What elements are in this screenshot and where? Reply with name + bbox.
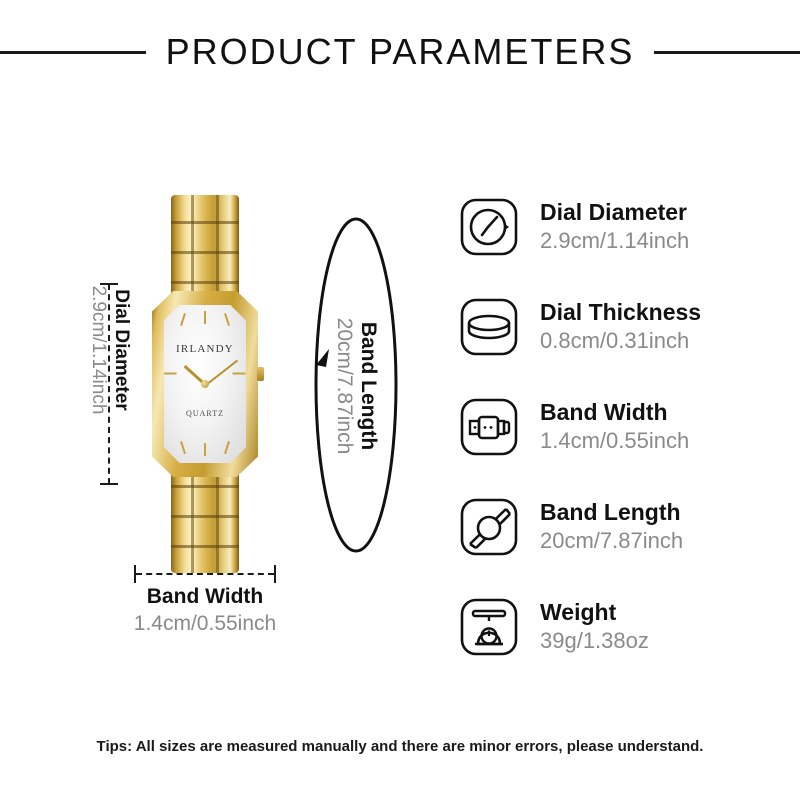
dimension-cap-right [274,565,276,583]
spec-text-dial-thickness: Dial Thickness 0.8cm/0.31inch [540,296,701,355]
spec-row-band-width: Band Width 1.4cm/0.55inch [458,396,788,496]
spec-label-weight: Weight [540,598,649,627]
dial-diameter-callout-labels: Dial Diameter 2.9cm/1.14inch [88,244,132,456]
spec-label-band-width: Band Width [540,398,689,427]
dial-brand-text: IRLANDY [164,343,246,355]
band-width-callout-labels: Band Width 1.4cm/0.55inch [60,584,350,638]
spec-label-band-length: Band Length [540,498,683,527]
spec-text-dial-diameter: Dial Diameter 2.9cm/1.14inch [540,196,689,255]
band-length-callout-labels: Band Length 20cm/7.87inch [333,233,379,539]
watch-product-image: IRLANDY QUARTZ [150,195,260,573]
spec-row-weight: Weight 39g/1.38oz [458,596,788,696]
band-width-callout-label: Band Width [60,584,350,610]
spec-value-dial-thickness: 0.8cm/0.31inch [540,327,701,356]
watch-dial-icon [458,196,520,258]
tips-footer: Tips: All sizes are measured manually an… [0,738,800,755]
spec-value-dial-diameter: 2.9cm/1.14inch [540,227,689,256]
page-title-row: PRODUCT PARAMETERS [0,24,800,80]
dial-tick [164,373,177,375]
dial-tick [180,441,186,454]
band-link-separator [171,515,239,518]
spec-value-band-length: 20cm/7.87inch [540,527,683,556]
watch-hand-pivot [201,380,209,388]
band-link-separator [171,485,239,488]
spec-list: Dial Diameter 2.9cm/1.14inch Dial Thickn… [458,196,788,696]
dial-tick [204,443,206,456]
band-link-separator [171,281,239,284]
spec-value-weight: 39g/1.38oz [540,627,649,656]
dial-tick [233,373,246,375]
spec-text-weight: Weight 39g/1.38oz [540,596,649,655]
band-width-icon [458,396,520,458]
watch-dial: IRLANDY QUARTZ [164,305,246,463]
dial-tick [224,313,230,326]
weight-scale-icon [458,596,520,658]
spec-value-band-width: 1.4cm/0.55inch [540,427,689,456]
spec-label-dial-thickness: Dial Thickness [540,298,701,327]
dial-tick [180,313,186,326]
spec-row-dial-thickness: Dial Thickness 0.8cm/0.31inch [458,296,788,396]
dimension-line-horizontal [136,573,274,575]
page-title: PRODUCT PARAMETERS [166,31,635,73]
dial-diameter-dimension: Dial Diameter 2.9cm/1.14inch [64,278,124,490]
spec-label-dial-diameter: Dial Diameter [540,198,689,227]
band-length-loop-diagram: Band Length 20cm/7.87inch [303,215,409,555]
title-rule-right [654,51,800,54]
band-width-dimension [130,563,280,585]
dial-diameter-callout-value: 2.9cm/1.14inch [88,286,110,415]
band-length-callout-value: 20cm/7.87inch [332,318,356,455]
dimension-cap-bottom [100,483,118,485]
dial-thickness-icon [458,296,520,358]
band-link-separator [171,221,239,224]
watch-crown [257,367,264,381]
band-width-callout-value: 1.4cm/0.55inch [60,610,350,637]
dial-tick [204,311,206,324]
band-link-separator [171,251,239,254]
dial-tick [224,441,230,454]
band-length-icon [458,496,520,558]
dial-diameter-callout-label: Dial Diameter [111,289,133,410]
band-link-separator [171,545,239,548]
band-length-callout-label: Band Length [356,322,380,450]
spec-row-dial-diameter: Dial Diameter 2.9cm/1.14inch [458,196,788,296]
title-rule-left [0,51,146,54]
spec-text-band-width: Band Width 1.4cm/0.55inch [540,396,689,455]
dial-movement-text: QUARTZ [164,409,246,418]
spec-row-band-length: Band Length 20cm/7.87inch [458,496,788,596]
spec-text-band-length: Band Length 20cm/7.87inch [540,496,683,555]
